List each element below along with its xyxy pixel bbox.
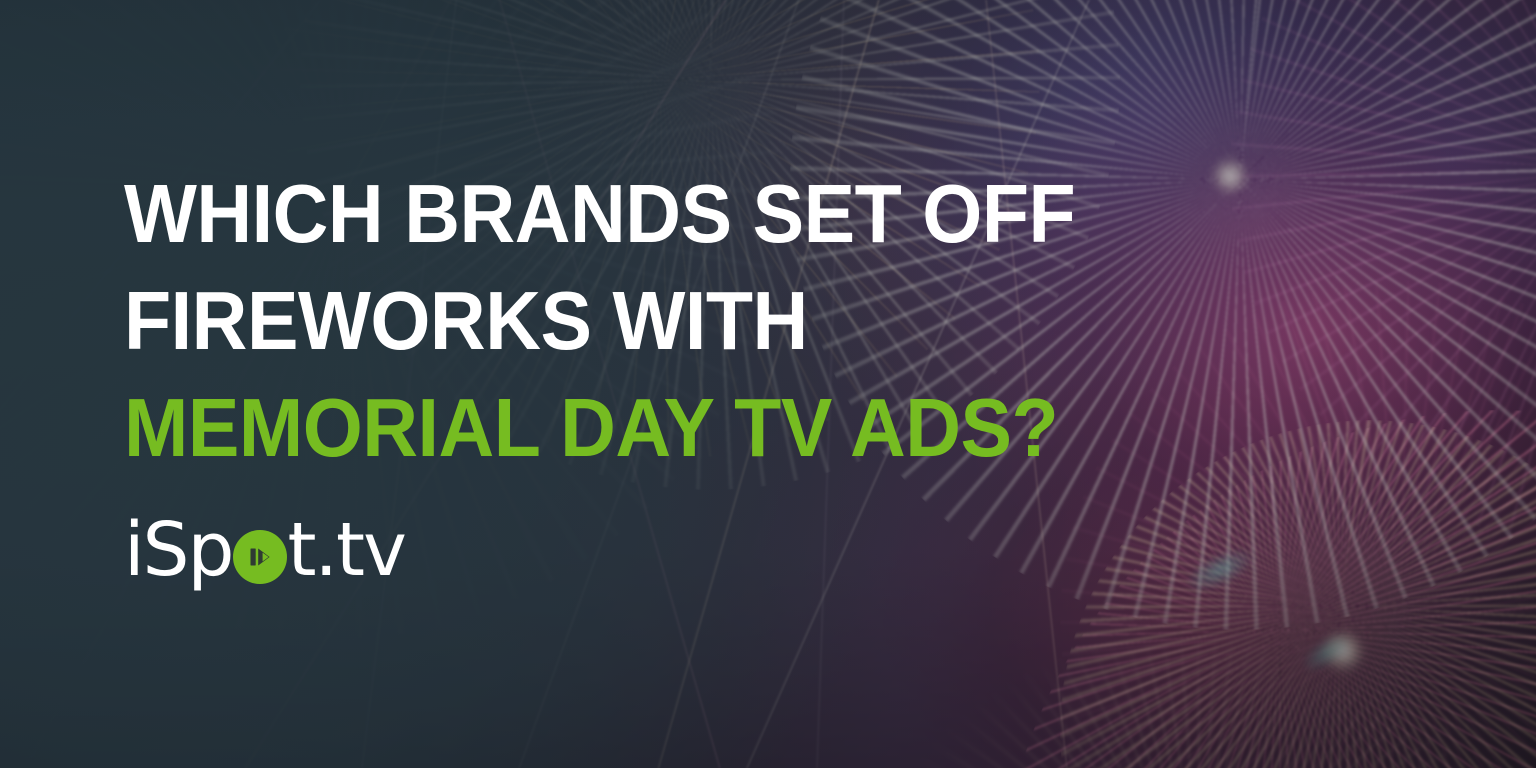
banner-content: WHICH BRANDS SET OFF FIREWORKS WITH MEMO… (124, 160, 1147, 481)
play-skip-icon (233, 530, 287, 584)
hero-banner: WHICH BRANDS SET OFF FIREWORKS WITH MEMO… (0, 0, 1536, 768)
headline-line-1: WHICH BRANDS SET OFF (124, 160, 1075, 267)
headline-line-2: FIREWORKS WITH (124, 267, 1075, 374)
headline-line-3: MEMORIAL DAY TV ADS? (124, 374, 1075, 481)
ispot-tv-logo[interactable]: iSp t.tv (124, 510, 405, 590)
logo-text-after: t.tv (288, 513, 405, 587)
logo-text-before: iSp (124, 513, 233, 587)
page-title: WHICH BRANDS SET OFF FIREWORKS WITH MEMO… (124, 160, 1075, 481)
